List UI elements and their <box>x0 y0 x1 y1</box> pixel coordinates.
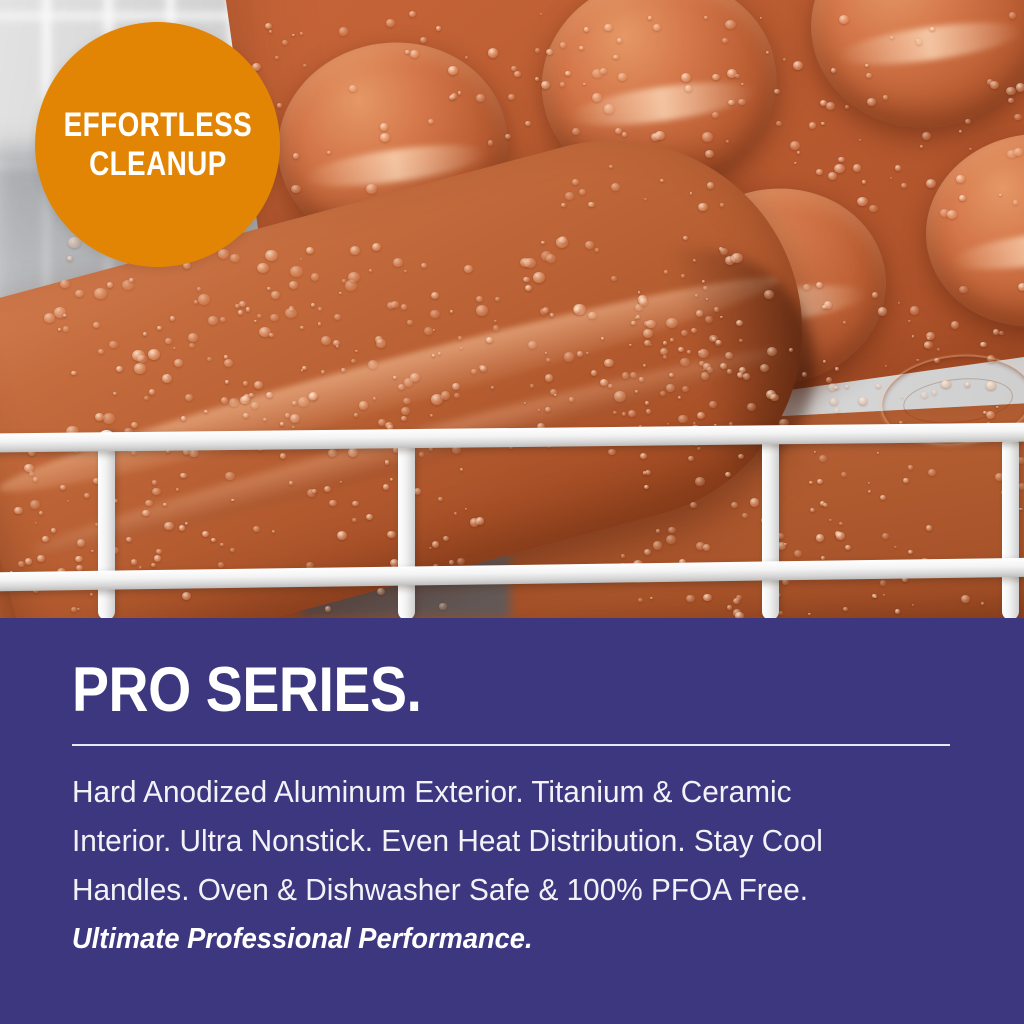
divider <box>72 744 950 746</box>
page-title: PRO SERIES. <box>72 659 421 722</box>
feature-description: Hard Anodized Aluminum Exterior. Titaniu… <box>72 767 972 914</box>
rack-tine <box>98 430 115 618</box>
badge-line-2: CLEANUP <box>63 145 251 183</box>
badge-label: EFFORTLESS CLEANUP <box>63 106 251 182</box>
muffin-cup <box>798 0 1024 142</box>
feature-line: Handles. Oven & Dishwasher Safe & 100% P… <box>72 865 936 914</box>
badge-line-1: EFFORTLESS <box>63 106 251 144</box>
rack-tine <box>762 436 779 618</box>
muffin-cup <box>914 120 1024 340</box>
product-photo: EFFORTLESS CLEANUP <box>0 0 1024 618</box>
product-marketing-image: EFFORTLESS CLEANUP PRO SERIES. Hard Anod… <box>0 0 1024 1024</box>
rack-tine <box>398 432 415 618</box>
feature-line: Hard Anodized Aluminum Exterior. Titaniu… <box>72 767 936 816</box>
tagline: Ultimate Professional Performance. <box>72 919 533 959</box>
rack-tine <box>1002 436 1019 618</box>
effortless-cleanup-badge: EFFORTLESS CLEANUP <box>35 22 280 267</box>
feature-line: Interior. Ultra Nonstick. Even Heat Dist… <box>72 816 936 865</box>
